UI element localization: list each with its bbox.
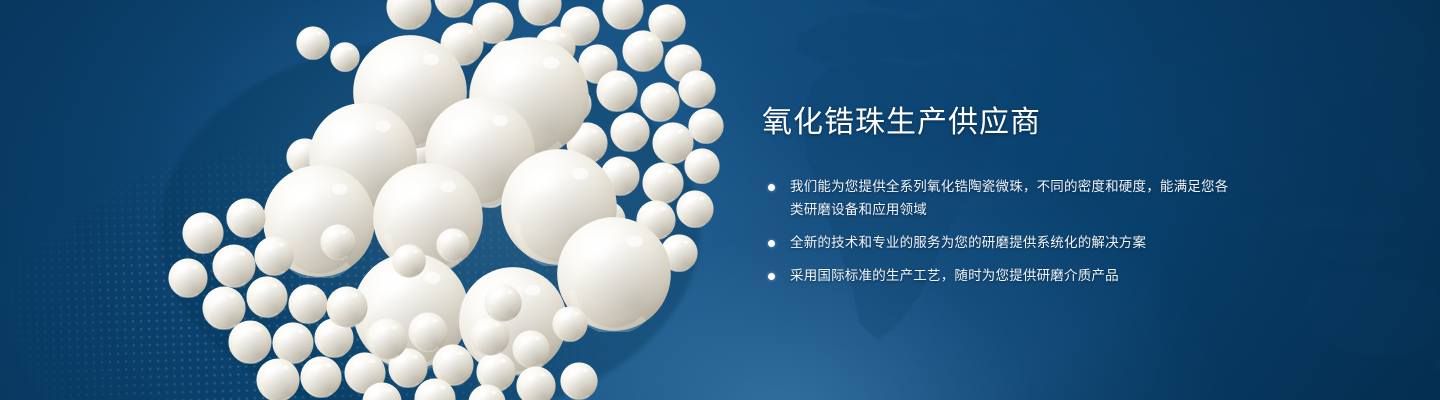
banner-headline: 氧化锆珠生产供应商 bbox=[762, 104, 1232, 142]
bullet-dot-icon bbox=[768, 184, 775, 191]
bullet-text-2: 全新的技术和专业的服务为您的研磨提供系统化的解决方案 bbox=[790, 232, 1232, 255]
bullet-text-3: 采用国际标准的生产工艺，随时为您提供研磨介质产品 bbox=[790, 265, 1232, 288]
banner-bullet-list: 我们能为您提供全系列氧化锆陶瓷微珠，不同的密度和硬度，能满足您各类研磨设备和应用… bbox=[762, 176, 1232, 288]
hero-banner: 氧化锆珠生产供应商 我们能为您提供全系列氧化锆陶瓷微珠，不同的密度和硬度，能满足… bbox=[0, 0, 1440, 400]
bullet-item-2: 全新的技术和专业的服务为您的研磨提供系统化的解决方案 bbox=[762, 232, 1232, 255]
bullet-dot-icon bbox=[768, 273, 775, 280]
bullet-item-3: 采用国际标准的生产工艺，随时为您提供研磨介质产品 bbox=[762, 265, 1232, 288]
bullet-text-1: 我们能为您提供全系列氧化锆陶瓷微珠，不同的密度和硬度，能满足您各类研磨设备和应用… bbox=[790, 176, 1232, 222]
bullet-item-1: 我们能为您提供全系列氧化锆陶瓷微珠，不同的密度和硬度，能满足您各类研磨设备和应用… bbox=[762, 176, 1232, 222]
bullet-dot-icon bbox=[768, 240, 775, 247]
banner-copy: 氧化锆珠生产供应商 我们能为您提供全系列氧化锆陶瓷微珠，不同的密度和硬度，能满足… bbox=[762, 104, 1232, 288]
